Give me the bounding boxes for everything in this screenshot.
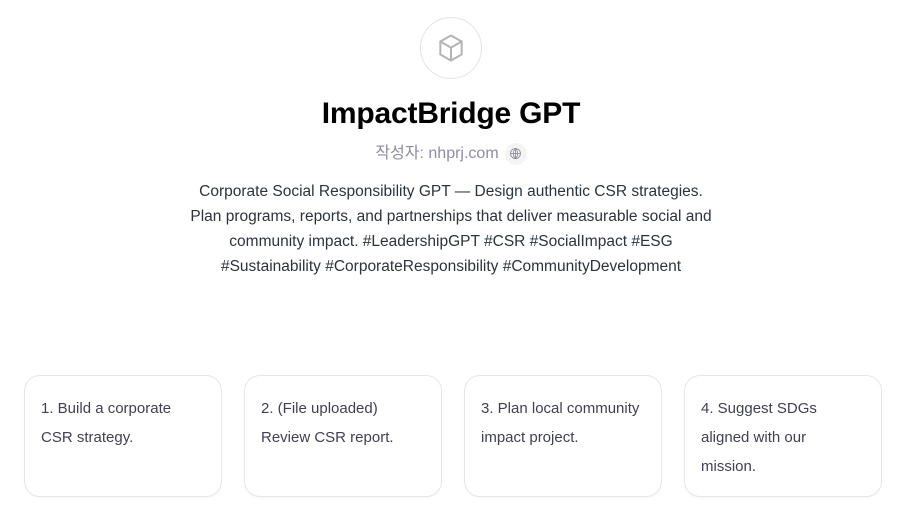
gpt-intro-screen: ImpactBridge GPT 작성자: nhprj.com Corporat…	[0, 0, 902, 516]
starter-prompt-card-3[interactable]: 3. Plan local community impact project.	[464, 375, 662, 497]
starter-prompt-card-1[interactable]: 1. Build a corporate CSR strategy.	[24, 375, 222, 497]
gpt-title: ImpactBridge GPT	[322, 97, 581, 132]
gpt-author-row: 작성자: nhprj.com	[375, 143, 526, 165]
cube-box-icon	[435, 32, 467, 64]
globe-icon[interactable]	[505, 143, 527, 165]
starter-prompt-card-4[interactable]: 4. Suggest SDGs aligned with our mission…	[684, 375, 882, 497]
gpt-avatar	[420, 17, 482, 79]
starter-prompt-card-2[interactable]: 2. (File uploaded) Review CSR report.	[244, 375, 442, 497]
gpt-description: Corporate Social Responsibility GPT — De…	[186, 179, 716, 279]
starter-prompt-list: 1. Build a corporate CSR strategy. 2. (F…	[24, 375, 882, 497]
gpt-author-label: 작성자: nhprj.com	[375, 144, 498, 163]
